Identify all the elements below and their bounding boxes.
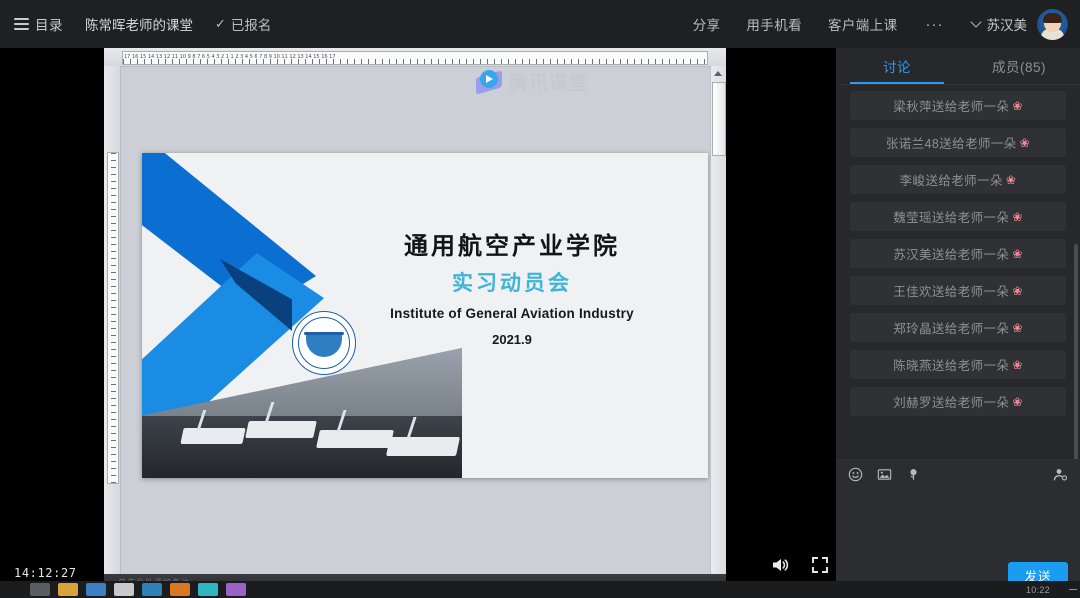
ruler-numbers: 17 16 15 14 13 12 11 10 9 8 7 6 5 4 3 2 … bbox=[124, 51, 706, 63]
avatar[interactable] bbox=[1037, 9, 1068, 40]
watermark-label: 腾讯课堂 bbox=[509, 68, 589, 95]
tencent-classroom-watermark: 腾讯课堂 bbox=[476, 68, 589, 95]
presentation-viewport: 17 16 15 14 13 12 11 10 9 8 7 6 5 4 3 2 … bbox=[104, 48, 726, 590]
header-left-group: 目录 陈常晖老师的课堂 ✓ 已报名 bbox=[14, 14, 271, 34]
chat-message-text: 张诺兰48送给老师一朵 bbox=[886, 133, 1017, 152]
tab-members[interactable]: 成员(85) bbox=[958, 48, 1080, 84]
presentation-scrollbar[interactable] bbox=[710, 66, 726, 590]
volume-icon[interactable] bbox=[770, 555, 790, 580]
chat-message-text: 苏汉美送给老师一朵 bbox=[893, 244, 1009, 263]
taskbar-icon-folder[interactable] bbox=[58, 583, 78, 596]
flower-icon: ❀ bbox=[1012, 99, 1022, 113]
check-icon: ✓ bbox=[215, 16, 226, 32]
chat-sidebar: 讨论 成员(85) 梁秋萍送给老师一朵❀张诺兰48送给老师一朵❀李峻送给老师一朵… bbox=[836, 48, 1080, 598]
image-icon[interactable] bbox=[877, 467, 892, 484]
compose-input-area[interactable] bbox=[836, 490, 1080, 554]
flower-icon: ❀ bbox=[1012, 395, 1022, 409]
taskbar-icon-app[interactable] bbox=[114, 583, 134, 596]
taskbar-icon-blue[interactable] bbox=[142, 583, 162, 596]
horizontal-ruler: 17 16 15 14 13 12 11 10 9 8 7 6 5 4 3 2 … bbox=[104, 48, 726, 67]
taskbar-icon-teal[interactable] bbox=[198, 583, 218, 596]
chat-message: 苏汉美送给老师一朵❀ bbox=[850, 239, 1066, 268]
slide-english-title: Institute of General Aviation Industry bbox=[332, 306, 692, 321]
chat-message-text: 刘赫罗送给老师一朵 bbox=[893, 392, 1009, 411]
slide-subtitle: 实习动员会 bbox=[332, 267, 692, 297]
more-options-button[interactable]: ··· bbox=[926, 16, 944, 33]
slide-text-block: 通用航空产业学院 实习动员会 Institute of General Avia… bbox=[332, 231, 692, 347]
mention-user-icon[interactable] bbox=[1053, 467, 1068, 484]
hamburger-icon[interactable] bbox=[14, 18, 29, 30]
taskbar-icon-1[interactable] bbox=[30, 583, 50, 596]
taskbar-icon-orange[interactable] bbox=[170, 583, 190, 596]
chat-message: 张诺兰48送给老师一朵❀ bbox=[850, 128, 1066, 157]
chat-message: 郑玲晶送给老师一朵❀ bbox=[850, 313, 1066, 342]
chat-message: 王佳欢送给老师一朵❀ bbox=[850, 276, 1066, 305]
video-stage[interactable]: 17 16 15 14 13 12 11 10 9 8 7 6 5 4 3 2 … bbox=[0, 48, 836, 598]
message-list[interactable]: 梁秋萍送给老师一朵❀张诺兰48送给老师一朵❀李峻送给老师一朵❀魏莹瑶送给老师一朵… bbox=[836, 85, 1080, 460]
chat-message-text: 王佳欢送给老师一朵 bbox=[893, 281, 1009, 300]
flower-icon: ❀ bbox=[1012, 284, 1022, 298]
vertical-ruler bbox=[104, 66, 121, 590]
chevron-down-icon bbox=[970, 16, 981, 27]
flower-gift-icon[interactable] bbox=[906, 467, 921, 484]
playback-timecode: 14:12:27 bbox=[14, 566, 77, 580]
scroll-up-arrow-icon[interactable] bbox=[714, 71, 722, 76]
catalog-button[interactable]: 目录 bbox=[35, 14, 63, 34]
compose-panel: 发送 bbox=[836, 459, 1080, 598]
flower-icon: ❀ bbox=[1012, 358, 1022, 372]
share-button[interactable]: 分享 bbox=[693, 14, 721, 34]
flower-icon: ❀ bbox=[1012, 210, 1022, 224]
emoji-icon[interactable] bbox=[848, 467, 863, 484]
chat-message-text: 陈晓燕送给老师一朵 bbox=[893, 355, 1009, 374]
show-desktop-button[interactable] bbox=[1069, 589, 1077, 591]
flower-icon: ❀ bbox=[1006, 173, 1016, 187]
sidebar-tabs: 讨论 成员(85) bbox=[836, 48, 1080, 85]
chat-message-text: 李峻送给老师一朵 bbox=[900, 170, 1003, 189]
chat-message-text: 郑玲晶送给老师一朵 bbox=[893, 318, 1009, 337]
scrollbar-thumb[interactable] bbox=[712, 82, 726, 156]
compose-toolbar bbox=[836, 460, 1080, 490]
user-menu[interactable]: 苏汉美 bbox=[972, 9, 1069, 40]
chat-message-text: 魏莹瑶送给老师一朵 bbox=[893, 207, 1009, 226]
active-tab-indicator bbox=[850, 82, 944, 85]
chat-message-text: 梁秋萍送给老师一朵 bbox=[893, 96, 1009, 115]
enrolled-status: 已报名 bbox=[231, 14, 272, 34]
tencent-classroom-logo bbox=[476, 69, 502, 95]
course-title: 陈常晖老师的课堂 bbox=[85, 14, 193, 34]
sidebar-scrollbar[interactable] bbox=[1074, 244, 1078, 468]
tab-discussion[interactable]: 讨论 bbox=[836, 48, 958, 84]
taskbar-icon-purple[interactable] bbox=[226, 583, 246, 596]
client-class-button[interactable]: 客户端上课 bbox=[828, 14, 898, 34]
mobile-view-button[interactable]: 用手机看 bbox=[746, 14, 802, 34]
header-right-group: 分享 用手机看 客户端上课 ··· 苏汉美 bbox=[667, 9, 1068, 40]
flower-icon: ❀ bbox=[1012, 247, 1022, 261]
chat-message: 陈晓燕送给老师一朵❀ bbox=[850, 350, 1066, 379]
chat-message: 李峻送给老师一朵❀ bbox=[850, 165, 1066, 194]
taskbar-icon-browser[interactable] bbox=[86, 583, 106, 596]
os-taskbar[interactable]: 10:22 bbox=[0, 581, 1080, 598]
taskbar-clock[interactable]: 10:22 bbox=[1026, 585, 1050, 595]
slide-date: 2021.9 bbox=[332, 332, 692, 347]
chat-message: 刘赫罗送给老师一朵❀ bbox=[850, 387, 1066, 416]
slide-title: 通用航空产业学院 bbox=[332, 231, 692, 261]
taskbar-icon-group bbox=[30, 583, 254, 596]
fullscreen-icon[interactable] bbox=[810, 555, 830, 580]
username-label: 苏汉美 bbox=[987, 14, 1028, 34]
flower-icon: ❀ bbox=[1012, 321, 1022, 335]
chat-message: 魏莹瑶送给老师一朵❀ bbox=[850, 202, 1066, 231]
flower-icon: ❀ bbox=[1020, 136, 1030, 150]
message-input[interactable] bbox=[836, 490, 1080, 554]
app-header: 目录 陈常晖老师的课堂 ✓ 已报名 分享 用手机看 客户端上课 ··· 苏汉美 bbox=[0, 0, 1080, 48]
slide: 通用航空产业学院 实习动员会 Institute of General Avia… bbox=[142, 153, 708, 478]
chat-message: 梁秋萍送给老师一朵❀ bbox=[850, 91, 1066, 120]
